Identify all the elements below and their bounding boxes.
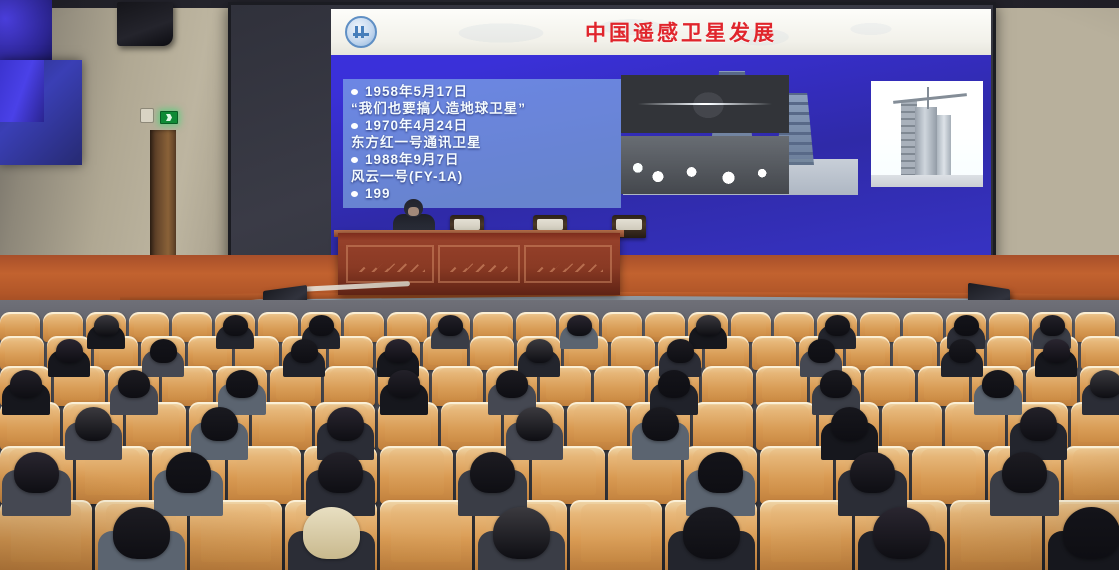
auditorium-seat [470, 336, 514, 370]
panel-zigzag-ornament [355, 263, 426, 272]
auditorium-seat [864, 366, 915, 406]
audience-member-head [318, 452, 363, 493]
auditorium-seat [1032, 312, 1072, 342]
slide-bullet-item: 1970年4月24日 [349, 117, 615, 134]
upper-left-light-glow [0, 0, 52, 62]
audience-member-head [831, 407, 868, 441]
auditorium-seat [0, 366, 51, 406]
auditorium-seat [380, 446, 453, 504]
pad-ground [871, 175, 983, 187]
auditorium-seat [517, 336, 561, 370]
slide-bullet-item: 199 [349, 185, 615, 202]
audience-member-head [291, 339, 318, 363]
head-table-panel [346, 245, 434, 283]
audience-member-head [309, 315, 334, 336]
audience-member-head [223, 315, 248, 336]
audience-member-head [118, 370, 150, 398]
audience-member-head [166, 452, 211, 493]
celebrating-crowd-photo [621, 136, 789, 194]
audience-member-head [385, 339, 412, 363]
audience-member-head [873, 507, 930, 559]
audience-member-head [850, 452, 895, 493]
slide-bullet-item: “我们也要搞人造地球卫星” [349, 100, 615, 117]
side-screen-slide-image [0, 60, 44, 122]
crane-mast [927, 87, 929, 109]
auditorium-seat [912, 446, 985, 504]
auditorium-seat [141, 336, 185, 370]
side-projection-screen [0, 60, 82, 165]
audience-member-head [567, 315, 592, 336]
audience-member-head [10, 370, 42, 398]
audience-member-head [470, 452, 515, 493]
audience-member-head [14, 452, 59, 493]
auditorium-seat [216, 366, 267, 406]
auditorium-seat [693, 402, 753, 450]
auditorium-seat [86, 312, 126, 342]
auditorium-seat [1081, 336, 1119, 370]
auditorium-seat [376, 336, 420, 370]
auditorium-seat [324, 366, 375, 406]
auditorium-seat [1080, 366, 1119, 406]
wall-mounted-speaker [117, 2, 173, 46]
auditorium-seat [0, 336, 44, 370]
audience-member-head [493, 507, 550, 559]
audience-member-head [642, 407, 679, 441]
audience-member-head [526, 339, 553, 363]
wall-sensor [140, 108, 154, 123]
slide-bullet-item: 1958年5月17日 [349, 83, 615, 100]
auditorium-seat [567, 402, 627, 450]
audience-member-head [1020, 407, 1057, 441]
slide-title: 中国遥感卫星发展 [331, 17, 991, 47]
audience-member-head [438, 315, 463, 336]
audience-member-head [94, 315, 119, 336]
audience-member-head [1090, 370, 1119, 398]
slide-bullet-item: 东方红一号通讯卫星 [349, 134, 615, 151]
audience-member-head [696, 315, 721, 336]
auditorium-seat [430, 312, 470, 342]
auditorium-seat [594, 366, 645, 406]
rocket-booster [937, 115, 951, 183]
slide-title-banner: 中国遥感卫星发展 [331, 9, 991, 55]
audience-member-head [201, 407, 238, 441]
lecture-hall-scene: 中国遥感卫星发展 1958年5月17日 “我们也要搞人造地球卫星” 1970年4… [0, 0, 1119, 570]
auditorium-seat [756, 402, 816, 450]
seat-row [0, 402, 1119, 450]
audience-member-head [1043, 339, 1070, 363]
presenter-face [408, 207, 419, 216]
audience-member-head [113, 507, 170, 559]
audience-member-head [698, 452, 743, 493]
auditorium-seat [684, 446, 757, 504]
audience-member-head [1040, 315, 1065, 336]
auditorium-seat [752, 336, 796, 370]
audience-member-head [949, 339, 976, 363]
auditorium-seat [570, 500, 662, 570]
slide-bullet-item: 风云一号(FY-1A) [349, 168, 615, 185]
rocket-on-launch-pad-photo [871, 81, 983, 187]
head-table-panel [524, 245, 612, 283]
auditorium-seat [301, 312, 341, 342]
auditorium-seat [0, 446, 73, 504]
audience-member-head [1063, 507, 1119, 559]
exit-sign-icon [160, 111, 178, 124]
audience-member-head [982, 370, 1014, 398]
rocket-stage-body [915, 107, 937, 183]
audience-member-head [226, 370, 258, 398]
auditorium-seat [559, 312, 599, 342]
auditorium-seat [882, 402, 942, 450]
dongfanghong-satellite-photo [621, 75, 789, 133]
auditorium-seat [215, 312, 255, 342]
audience-member-head [667, 339, 694, 363]
audience-member-head [388, 370, 420, 398]
slide-bullet-list: 1958年5月17日 “我们也要搞人造地球卫星” 1970年4月24日 东方红一… [343, 79, 621, 208]
auditorium-seat [688, 312, 728, 342]
auditorium-seat [47, 336, 91, 370]
auditorium-seat [946, 312, 986, 342]
panel-zigzag-ornament [533, 263, 604, 272]
audience-member-head [820, 370, 852, 398]
audience-member-head [496, 370, 528, 398]
audience-member-head [75, 407, 112, 441]
audience-member-head [327, 407, 364, 441]
audience-member-head [658, 370, 690, 398]
audience-member-head [150, 339, 177, 363]
auditorium-seat [432, 366, 483, 406]
audience-member-head [808, 339, 835, 363]
crane-arm [893, 93, 967, 104]
auditorium-seat [1064, 446, 1119, 504]
auditorium-seat [817, 312, 857, 342]
auditorium-seat [611, 336, 655, 370]
audience-member-head [303, 507, 360, 559]
slide-bullet-item: 1988年9月7日 [349, 151, 615, 168]
auditorium-seat [315, 402, 375, 450]
panel-zigzag-ornament [446, 263, 512, 272]
audience-member-head [683, 507, 740, 559]
auditorium-seat [987, 336, 1031, 370]
audience-member-head [516, 407, 553, 441]
audience-member-head [56, 339, 83, 363]
auditorium-seat [893, 336, 937, 370]
audience-member-head [1002, 452, 1047, 493]
auditorium-seat [702, 366, 753, 406]
audience-member-head [954, 315, 979, 336]
head-table-panel [438, 245, 520, 283]
audience-member-head [825, 315, 850, 336]
